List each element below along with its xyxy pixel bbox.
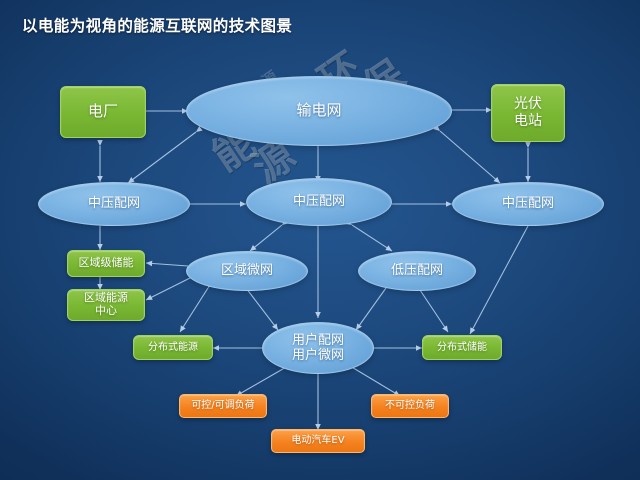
node-transmission-grid[interactable]: 输电网 bbox=[186, 76, 452, 146]
node-regional-microgrid[interactable]: 区域微网 bbox=[186, 251, 308, 291]
node-power-plant[interactable]: 电厂 bbox=[60, 86, 146, 138]
node-mv-grid-right[interactable]: 中压配网 bbox=[452, 182, 604, 226]
node-mv-grid-center[interactable]: 中压配网 bbox=[246, 178, 392, 226]
node-uncontrollable-load[interactable]: 不可控负荷 bbox=[371, 394, 449, 418]
node-regional-energy-center[interactable]: 区域能源 中心 bbox=[67, 289, 145, 321]
page-title: 以电能为视角的能源互联网的技术图景 bbox=[22, 14, 292, 36]
node-lv-grid[interactable]: 低压配网 bbox=[358, 251, 476, 291]
node-user-grid[interactable]: 用户配网 用户微网 bbox=[262, 322, 374, 374]
node-distributed-energy[interactable]: 分布式能源 bbox=[133, 335, 213, 360]
connector-edges bbox=[0, 0, 640, 480]
node-pv-station[interactable]: 光伏 电站 bbox=[491, 84, 565, 142]
slide-canvas: 能 源 环 保 能 源 bbox=[0, 0, 640, 480]
node-controllable-load[interactable]: 可控/可调负荷 bbox=[179, 394, 267, 418]
node-electric-vehicle[interactable]: 电动汽车EV bbox=[271, 429, 365, 453]
node-mv-grid-left[interactable]: 中压配网 bbox=[38, 182, 190, 226]
node-regional-storage[interactable]: 区域级储能 bbox=[67, 250, 145, 277]
node-distributed-storage[interactable]: 分布式储能 bbox=[422, 335, 502, 360]
